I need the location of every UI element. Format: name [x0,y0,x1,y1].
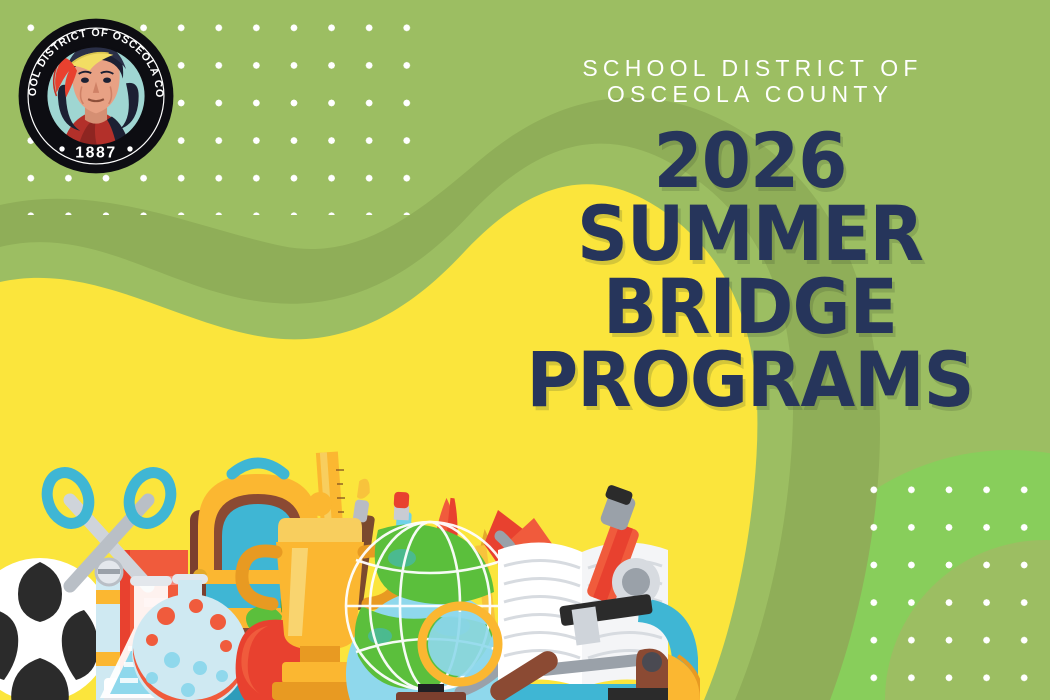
soccer-ball-icon [0,558,112,700]
district-seal-logo: THE SCHOOL DISTRICT OF OSCEOLA COUNTY FL… [17,17,175,175]
organization-name: SCHOOL DISTRICT OF OSCEOLA COUNTY [460,55,1040,107]
dot-grid-bottom-right [840,460,1050,700]
headline-block: SCHOOL DISTRICT OF OSCEOLA COUNTY 2026 S… [460,55,1040,417]
school-supplies-illustration [0,440,700,700]
seal-year: 1887 [75,145,116,162]
poster-canvas: THE SCHOOL DISTRICT OF OSCEOLA COUNTY FL… [0,0,1050,700]
page-title: 2026 SUMMER BRIDGE PROGRAMS [480,125,1019,417]
